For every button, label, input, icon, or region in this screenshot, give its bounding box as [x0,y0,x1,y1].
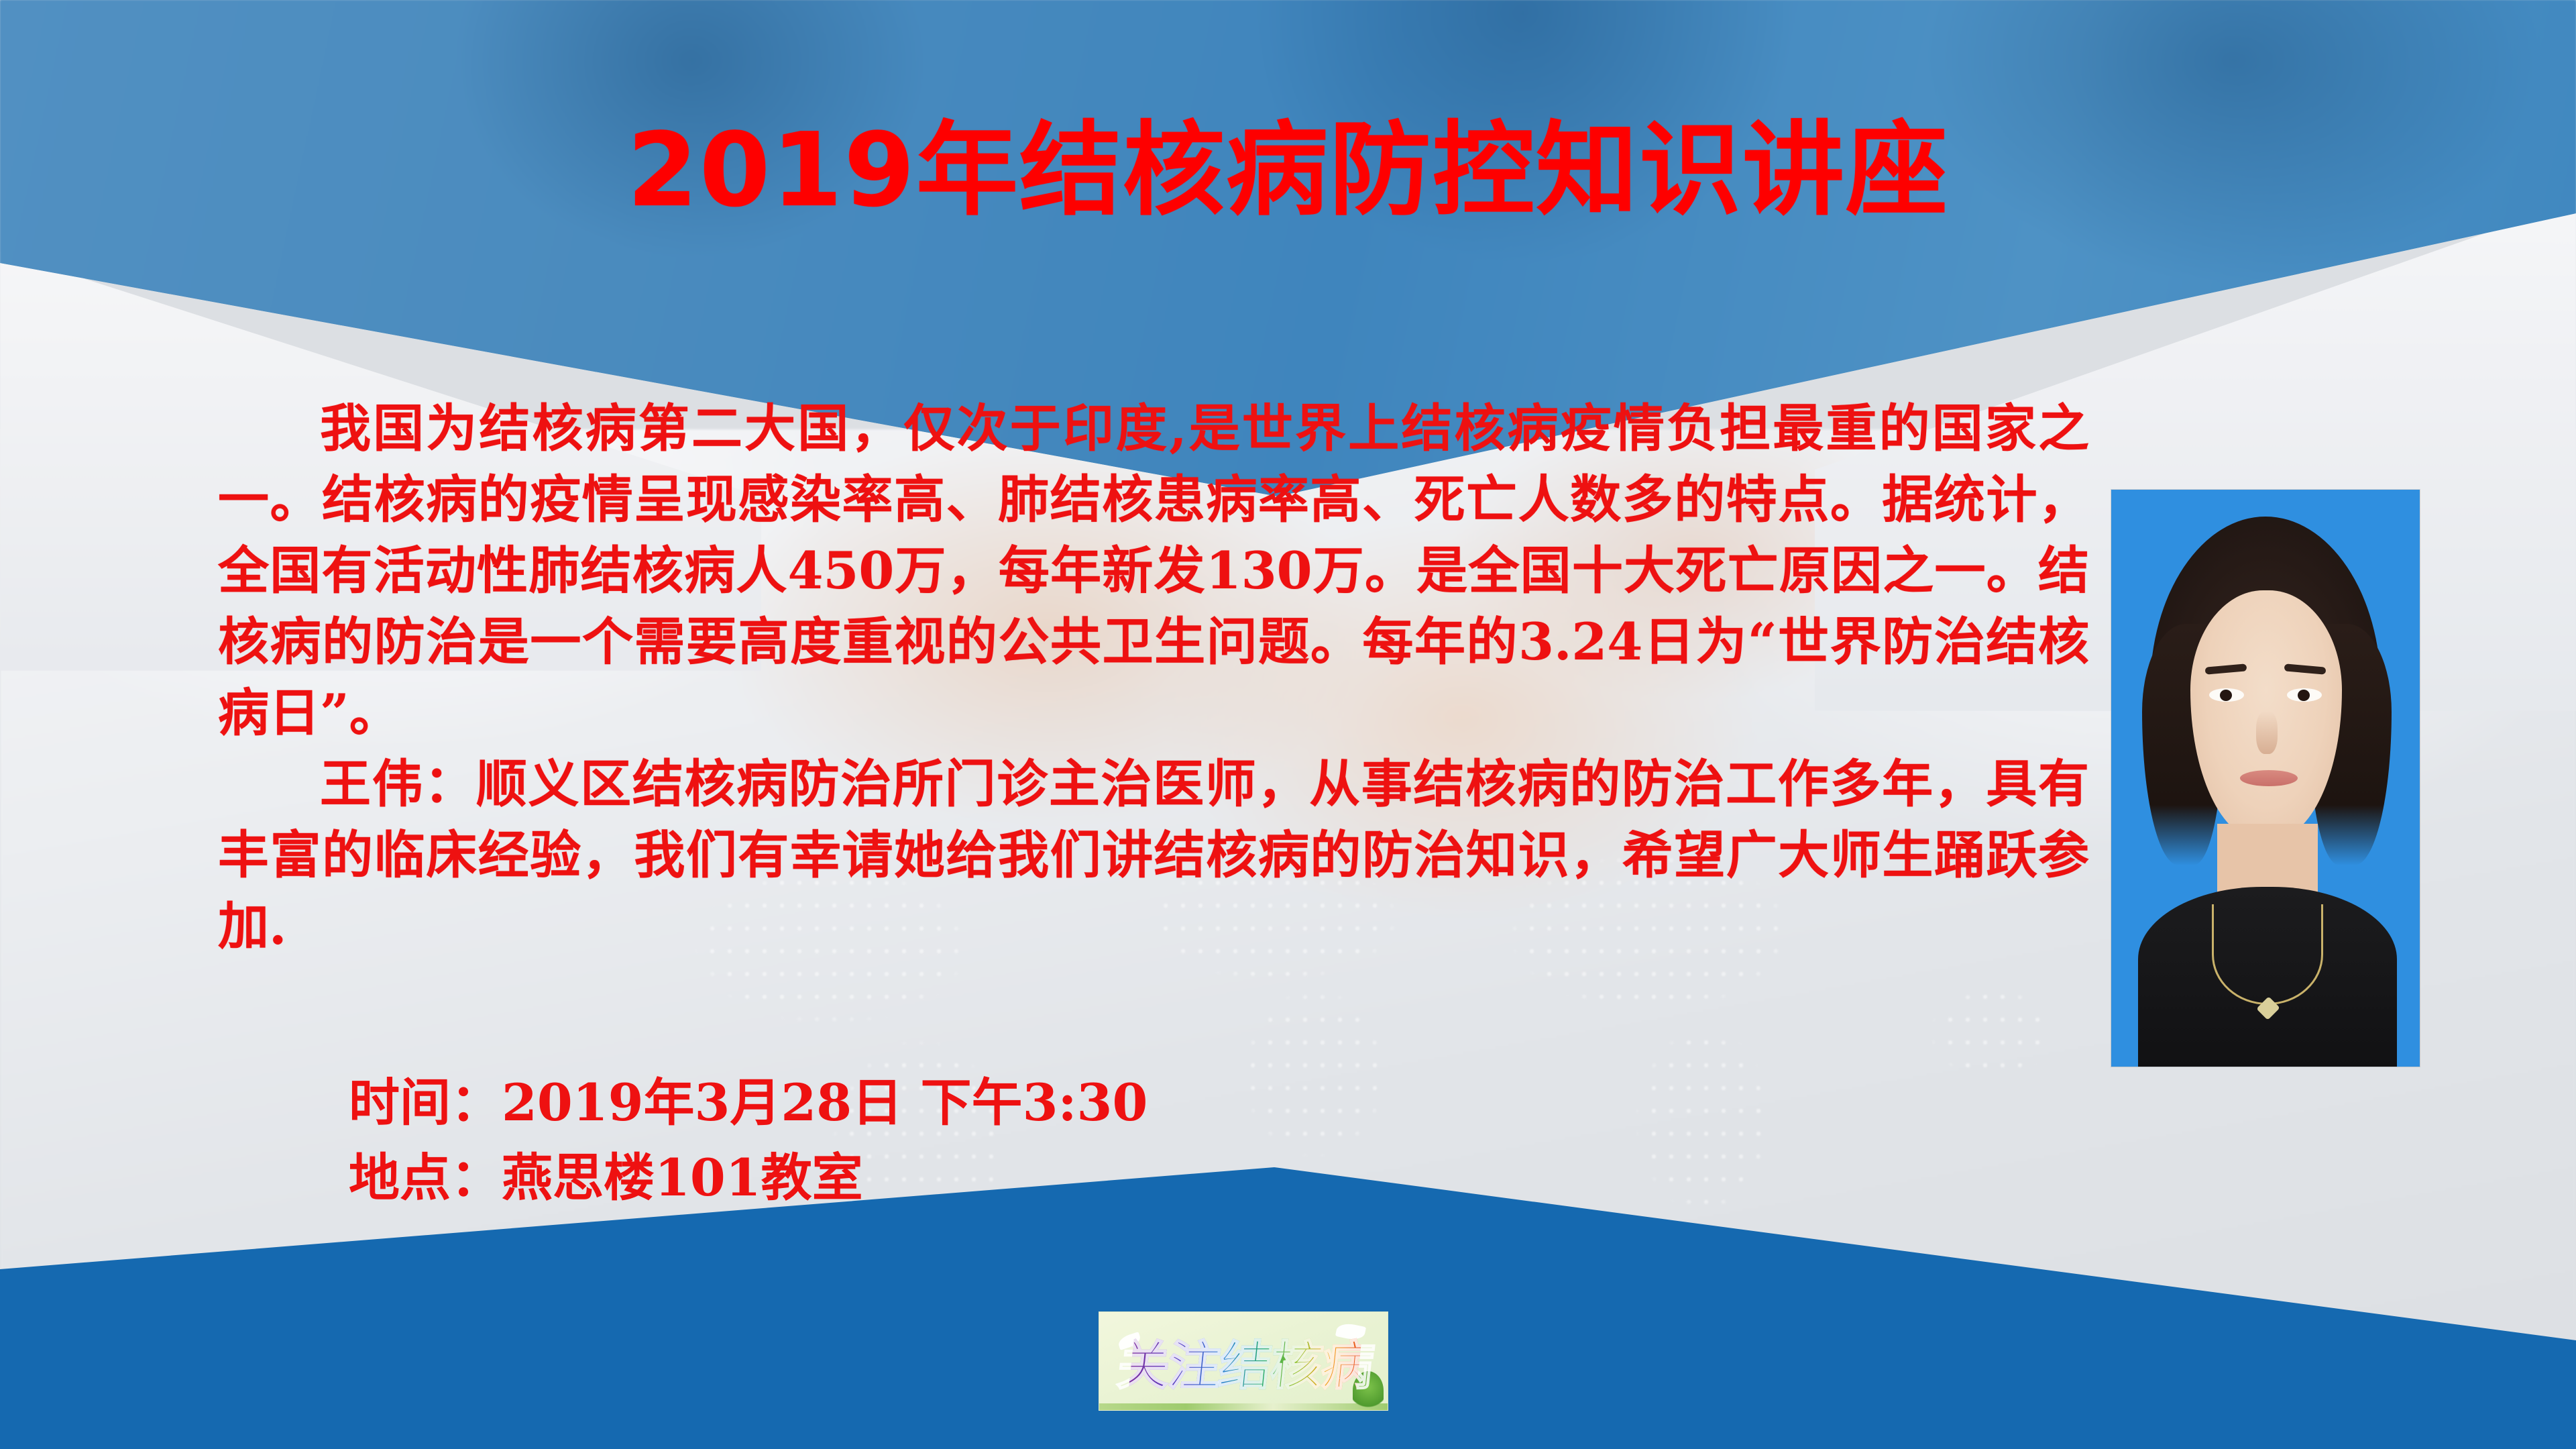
portrait-eye-right-icon [2287,688,2322,702]
grass-strip-icon [1099,1403,1388,1410]
event-place: 地点：燕思楼101教室 [349,1140,1958,1216]
portrait-eye-left-icon [2209,688,2244,702]
portrait-nose-icon [2256,711,2278,754]
paragraph-epidemic-overview: 我国为结核病第二大国，仅次于印度,是世界上结核病疫情负担最重的国家之一。结核病的… [218,393,2089,749]
body-copy: 我国为结核病第二大国，仅次于印度,是世界上结核病疫情负担最重的国家之一。结核病的… [218,393,2089,962]
page-title: 2019年结核病防控知识讲座 [0,119,2576,221]
speaker-portrait [2111,490,2420,1067]
portrait-necklace-icon [2212,904,2323,1005]
poster-canvas: 2019年结核病防控知识讲座 我国为结核病第二大国，仅次于印度,是世界上结核病疫… [0,0,2576,1449]
paragraph-speaker-bio: 王伟：顺义区结核病防治所门诊主治医师，从事结核病的防治工作多年，具有丰富的临床经… [218,749,2089,962]
portrait-mouth-icon [2240,770,2298,786]
slogan-text: 关注结核病 [1127,1322,1364,1402]
event-details: 时间：2019年3月28日 下午3:30 地点：燕思楼101教室 [349,1065,1958,1216]
slogan-banner: 关注结核病 [1099,1311,1388,1411]
event-time: 时间：2019年3月28日 下午3:30 [349,1065,1958,1140]
